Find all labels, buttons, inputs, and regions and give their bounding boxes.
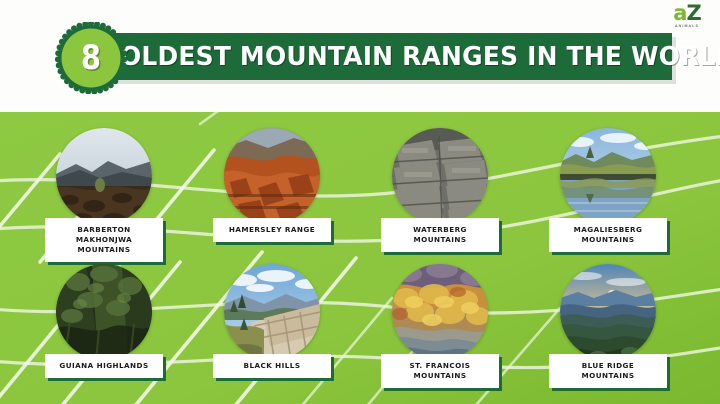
item-label-text: WATERBERG MOUNTAINS [390, 225, 490, 245]
item-label-text: BARBERTON MAKHONJWA MOUNTAINS [54, 225, 154, 255]
list-item[interactable]: BARBERTON MAKHONJWA MOUNTAINS [14, 122, 194, 268]
item-label-text: MAGALIESBERG MOUNTAINS [558, 225, 658, 245]
header: aZ ANIMALS OLDEST MOUNTAIN RANGES IN THE… [0, 0, 720, 112]
item-label-box: GUIANA HIGHLANDS [45, 354, 163, 378]
item-photo-guiana-highlands [56, 264, 152, 360]
item-photo-barberton-makhonjwa-mountains [56, 128, 152, 224]
item-photo-waterberg-mountains [392, 128, 488, 224]
logo-letter-z: Z [686, 1, 700, 25]
list-item[interactable]: GUIANA HIGHLANDS [14, 258, 194, 404]
az-animals-logo: aZ ANIMALS [664, 3, 710, 29]
page-title: OLDEST MOUNTAIN RANGES IN THE WORLD [120, 33, 650, 80]
logo-subtitle: ANIMALS [675, 24, 699, 28]
item-label-text: BLACK HILLS [222, 361, 322, 371]
list-item[interactable]: HAMERSLEY RANGE [182, 122, 362, 268]
item-label-box: BARBERTON MAKHONJWA MOUNTAINS [45, 218, 163, 262]
list-item[interactable]: ST. FRANCOIS MOUNTAINS [350, 258, 530, 404]
item-label-box: BLACK HILLS [213, 354, 331, 378]
item-label-box: WATERBERG MOUNTAINS [381, 218, 499, 252]
item-label-box: ST. FRANCOIS MOUNTAINS [381, 354, 499, 388]
item-photo-black-hills [224, 264, 320, 360]
list-item[interactable]: MAGALIESBERG MOUNTAINS [518, 122, 698, 268]
list-item[interactable]: BLUE RIDGE MOUNTAINS [518, 258, 698, 404]
item-label-text: GUIANA HIGHLANDS [54, 361, 154, 371]
badge-number: 8 [60, 22, 121, 94]
logo-letter-a: a [673, 1, 686, 25]
item-label-text: BLUE RIDGE MOUNTAINS [558, 361, 658, 381]
item-photo-st-francois-mountains [392, 264, 488, 360]
item-label-text: HAMERSLEY RANGE [222, 225, 322, 235]
item-label-box: BLUE RIDGE MOUNTAINS [549, 354, 667, 388]
item-photo-blue-ridge-mountains [560, 264, 656, 360]
item-label-text: ST. FRANCOIS MOUNTAINS [390, 361, 490, 381]
ranking-grid: BARBERTON MAKHONJWA MOUNTAINS [0, 112, 720, 404]
logo-wordmark: aZ [673, 3, 700, 23]
infographic-page: aZ ANIMALS OLDEST MOUNTAIN RANGES IN THE… [0, 0, 720, 404]
list-item[interactable]: WATERBERG MOUNTAINS [350, 122, 530, 268]
item-label-box: HAMERSLEY RANGE [213, 218, 331, 242]
item-label-box: MAGALIESBERG MOUNTAINS [549, 218, 667, 252]
list-item[interactable]: BLACK HILLS [182, 258, 362, 404]
rank-count-badge: 8 [55, 22, 127, 94]
item-photo-magaliesberg-mountains [560, 128, 656, 224]
content-panel: BARBERTON MAKHONJWA MOUNTAINS [0, 112, 720, 404]
item-photo-hamersley-range [224, 128, 320, 224]
